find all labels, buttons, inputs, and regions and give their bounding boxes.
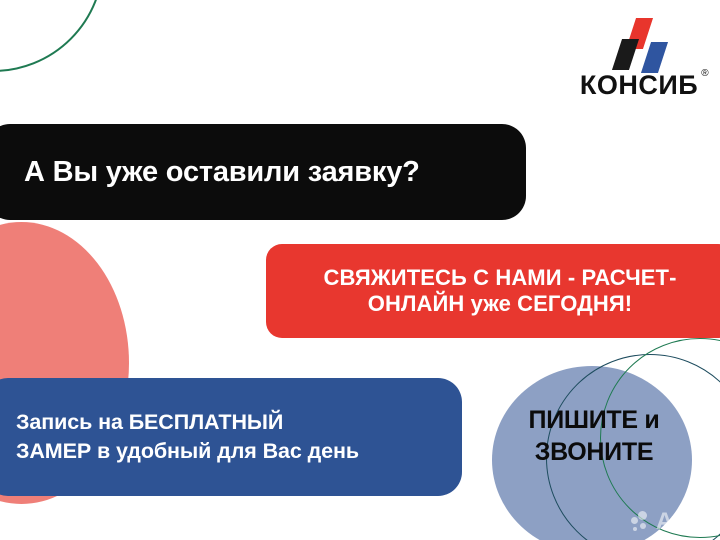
contact-banner-line2-part1: ОНЛАЙН: [368, 291, 471, 316]
contact-banner-line2-part3: СЕГОДНЯ!: [517, 291, 632, 316]
contact-banner: СВЯЖИТЕСЬ С НАМИ - РАСЧЕТ- ОНЛАЙН уже СЕ…: [266, 244, 720, 338]
brand-logo: КОНСИБ ®: [574, 18, 704, 99]
promo-poster: КОНСИБ ® А Вы уже оставили заявку? СВЯЖИ…: [0, 0, 720, 540]
avito-watermark-label: Avito: [656, 510, 712, 534]
konsib-logo-icon: [605, 18, 673, 68]
brand-name: КОНСИБ: [580, 70, 698, 100]
measurement-banner: Запись на БЕСПЛАТНЫЙ ЗАМЕР в удобный для…: [0, 378, 462, 496]
logo-parallelogram-blue-icon: [641, 42, 668, 73]
contact-banner-text: СВЯЖИТЕСЬ С НАМИ - РАСЧЕТ- ОНЛАЙН уже СЕ…: [323, 265, 676, 318]
cta-line1-part1: ПИШИТЕ: [529, 406, 645, 434]
contact-banner-line2-part2: уже: [471, 291, 518, 316]
registered-trademark-mark: ®: [701, 69, 709, 79]
measurement-banner-line2: ЗАМЕР в удобный для Вас день: [16, 439, 359, 463]
contact-banner-line1: СВЯЖИТЕСЬ С НАМИ - РАСЧЕТ-: [323, 265, 676, 290]
decorative-green-ring-top-left: [0, 0, 104, 72]
question-banner-text: А Вы уже оставили заявку?: [24, 157, 420, 187]
question-banner: А Вы уже оставили заявку?: [0, 124, 526, 220]
measurement-banner-line1: Запись на БЕСПЛАТНЫЙ: [16, 410, 283, 434]
cta-line2: ЗВОНИТЕ: [535, 438, 653, 466]
brand-wordmark: КОНСИБ ®: [580, 72, 698, 99]
avito-dots-icon: [631, 511, 653, 533]
measurement-banner-text: Запись на БЕСПЛАТНЫЙ ЗАМЕР в удобный для…: [16, 408, 359, 466]
avito-watermark: Avito: [631, 510, 712, 534]
logo-parallelogram-black-icon: [612, 39, 639, 70]
call-to-action-text: ПИШИТЕ и ЗВОНИТЕ: [492, 404, 696, 468]
cta-line1-part2: и: [644, 406, 659, 434]
